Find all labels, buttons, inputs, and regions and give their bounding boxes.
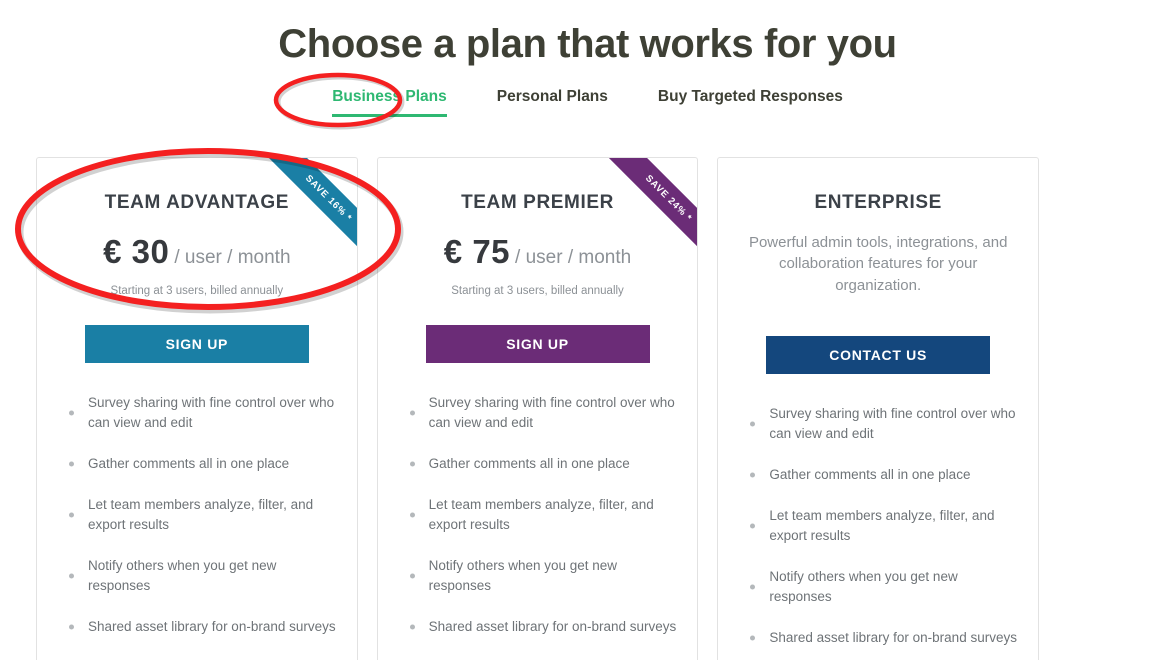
tab-business-plans[interactable]: Business Plans [332, 88, 447, 126]
tab-label: Buy Targeted Responses [658, 88, 843, 105]
plan-type-tabs: Business PlansPersonal PlansBuy Targeted… [0, 88, 1175, 126]
plan-feature-item: Gather comments all in one place [398, 454, 680, 474]
plan-name: TEAM ADVANTAGE [37, 192, 357, 214]
plan-price-unit: / user / month [174, 247, 290, 268]
plan-name: TEAM PREMIER [378, 192, 698, 214]
plan-feature-label: Gather comments all in one place [429, 456, 630, 471]
plan-feature-label: Gather comments all in one place [88, 456, 289, 471]
bullet-icon [410, 512, 415, 517]
plan-feature-item: Shared asset library for on-brand survey… [57, 617, 339, 637]
plan-feature-label: Let team members analyze, filter, and ex… [429, 497, 654, 532]
plan-card-team-premier: SAVE 24% *TEAM PREMIER€ 75/ user / month… [377, 157, 699, 660]
bullet-icon [410, 410, 415, 415]
plan-description: Powerful admin tools, integrations, and … [718, 232, 1038, 296]
plan-feature-label: Survey sharing with fine control over wh… [88, 395, 334, 430]
plan-feature-item: Survey sharing with fine control over wh… [57, 393, 339, 433]
plan-feature-label: Shared asset library for on-brand survey… [429, 619, 677, 634]
plan-feature-item: Notify others when you get new responses [398, 556, 680, 596]
plan-feature-label: Shared asset library for on-brand survey… [88, 619, 336, 634]
plan-cta-button-enterprise[interactable]: CONTACT US [766, 336, 990, 374]
plan-feature-item: Shared asset library for on-brand survey… [738, 628, 1020, 648]
bullet-icon [750, 635, 755, 640]
plan-cta-wrap: CONTACT US [718, 336, 1038, 374]
tab-active-underline [332, 114, 447, 117]
plan-feature-item: Notify others when you get new responses [738, 567, 1020, 607]
plan-feature-item: Gather comments all in one place [738, 465, 1020, 485]
bullet-icon [69, 512, 74, 517]
plan-cta-wrap: SIGN UP [37, 325, 357, 363]
bullet-icon [69, 573, 74, 578]
plan-price-unit: / user / month [515, 247, 631, 268]
plan-feature-list: Survey sharing with fine control over wh… [718, 404, 1038, 660]
plan-feature-item: Let team members analyze, filter, and ex… [398, 495, 680, 535]
plan-feature-item: Gather comments all in one place [57, 454, 339, 474]
plan-feature-list: Survey sharing with fine control over wh… [378, 393, 698, 660]
plan-price-amount: € 75 [444, 233, 510, 270]
plan-card-team-advantage: SAVE 16% *TEAM ADVANTAGE€ 30/ user / mon… [36, 157, 358, 660]
plan-feature-item: Survey sharing with fine control over wh… [738, 404, 1020, 444]
plan-feature-label: Survey sharing with fine control over wh… [429, 395, 675, 430]
tab-personal-plans[interactable]: Personal Plans [497, 88, 608, 115]
bullet-icon [410, 624, 415, 629]
plan-cta-button-team-advantage[interactable]: SIGN UP [85, 325, 309, 363]
plan-cta-wrap: SIGN UP [378, 325, 698, 363]
page-title: Choose a plan that works for you [0, 22, 1175, 67]
plan-feature-item: Let team members analyze, filter, and ex… [738, 506, 1020, 546]
plan-name: ENTERPRISE [718, 192, 1038, 214]
plan-cards: SAVE 16% *TEAM ADVANTAGE€ 30/ user / mon… [36, 157, 1039, 660]
plan-price-row: € 75/ user / month [378, 233, 698, 271]
tab-label: Business Plans [332, 88, 447, 105]
plan-price-note: Starting at 3 users, billed annually [37, 285, 357, 297]
pricing-page: Choose a plan that works for you Busines… [0, 0, 1175, 660]
bullet-icon [69, 410, 74, 415]
bullet-icon [750, 523, 755, 528]
plan-price-note: Starting at 3 users, billed annually [378, 285, 698, 297]
plan-feature-label: Let team members analyze, filter, and ex… [769, 508, 994, 543]
plan-feature-label: Gather comments all in one place [769, 467, 970, 482]
tab-buy-targeted-responses[interactable]: Buy Targeted Responses [658, 88, 843, 115]
bullet-icon [69, 624, 74, 629]
bullet-icon [750, 421, 755, 426]
plan-feature-label: Survey sharing with fine control over wh… [769, 406, 1015, 441]
bullet-icon [410, 461, 415, 466]
plan-feature-item: Let team members analyze, filter, and ex… [57, 495, 339, 535]
plan-price-row: € 30/ user / month [37, 233, 357, 271]
plan-feature-label: Shared asset library for on-brand survey… [769, 630, 1017, 645]
bullet-icon [410, 573, 415, 578]
plan-feature-item: Notify others when you get new responses [57, 556, 339, 596]
plan-cta-button-team-premier[interactable]: SIGN UP [426, 325, 650, 363]
plan-feature-item: Shared asset library for on-brand survey… [398, 617, 680, 637]
bullet-icon [69, 461, 74, 466]
plan-feature-label: Notify others when you get new responses [429, 558, 617, 593]
bullet-icon [750, 472, 755, 477]
plan-price-amount: € 30 [103, 233, 169, 270]
bullet-icon [750, 584, 755, 589]
plan-feature-label: Let team members analyze, filter, and ex… [88, 497, 313, 532]
plan-feature-list: Survey sharing with fine control over wh… [37, 393, 357, 660]
plan-card-enterprise: ENTERPRISEPowerful admin tools, integrat… [717, 157, 1039, 660]
plan-feature-item: Survey sharing with fine control over wh… [398, 393, 680, 433]
tab-label: Personal Plans [497, 88, 608, 105]
plan-feature-label: Notify others when you get new responses [769, 569, 957, 604]
plan-feature-label: Notify others when you get new responses [88, 558, 276, 593]
